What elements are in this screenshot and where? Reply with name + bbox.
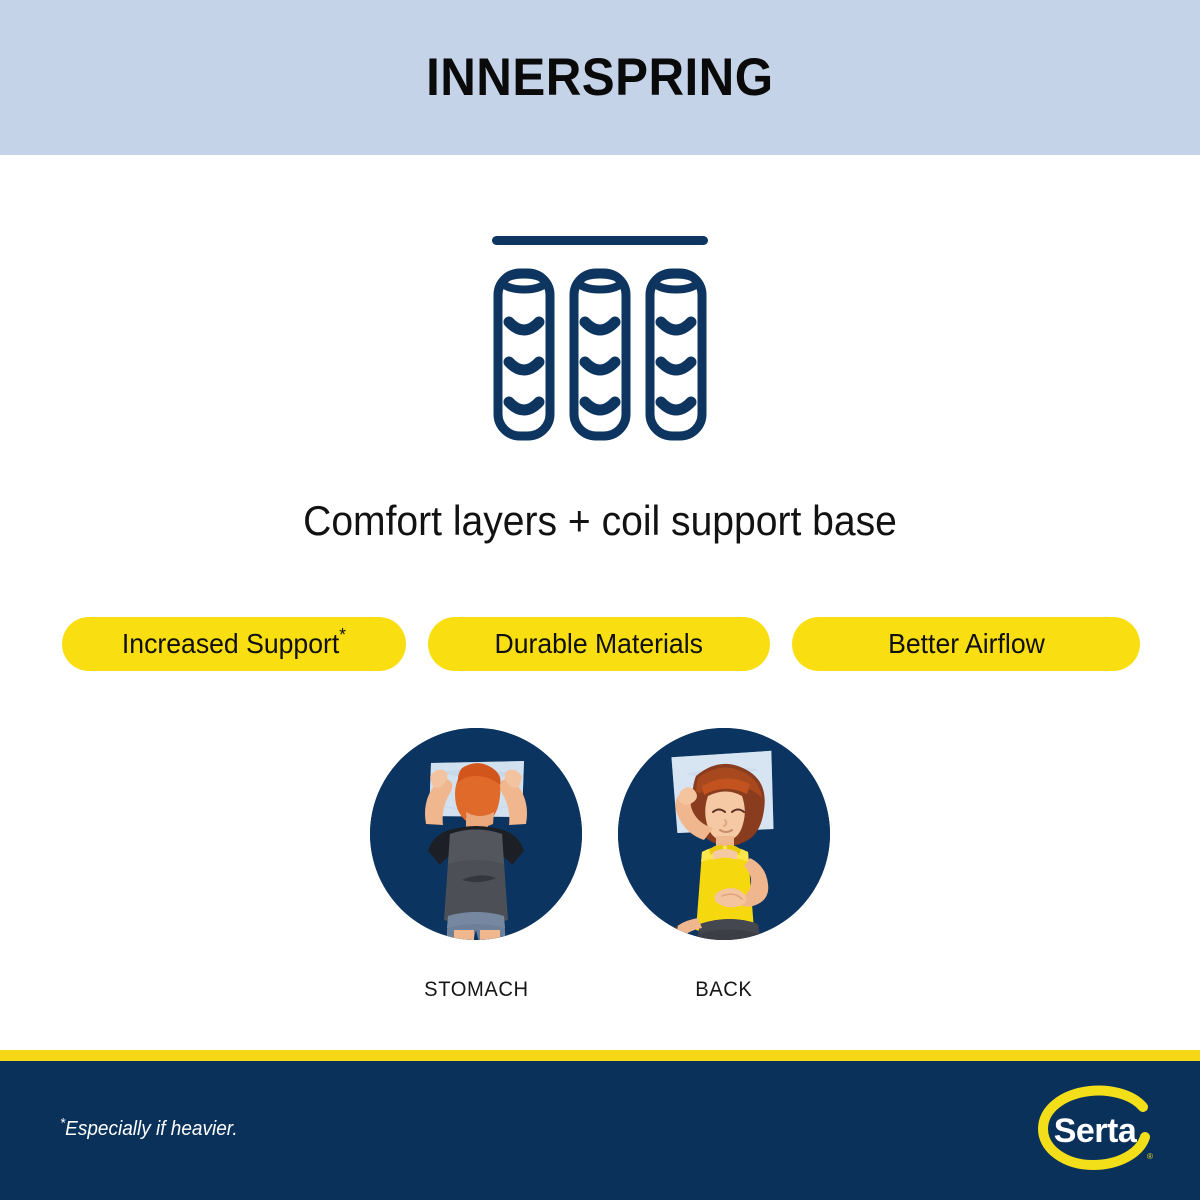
serta-registered-mark: ®: [1147, 1152, 1153, 1161]
back-sleeper-illustration: [618, 728, 830, 940]
sleeper-label-back: BACK: [695, 978, 752, 1002]
sleeper-circle-stomach: [370, 728, 582, 940]
coil-icon-container: [0, 225, 1200, 445]
sleeper-positions-row: STOMACH: [0, 728, 1200, 1002]
sleeper-circle-back: [618, 728, 830, 940]
sleeper-card-back[interactable]: BACK: [618, 728, 830, 1002]
stomach-sleeper-illustration: [370, 728, 582, 940]
serta-wordmark: Serta: [1054, 1112, 1138, 1150]
feature-pill-label: Better Airflow: [888, 628, 1045, 659]
footer-yellow-stripe: [0, 1050, 1200, 1061]
coil-column-1: [498, 273, 550, 436]
feature-pill-increased-support[interactable]: Increased Support*: [62, 617, 406, 671]
footnote-text: Especially if heavier.: [65, 1118, 237, 1140]
feature-pill-durable-materials[interactable]: Durable Materials: [428, 617, 770, 671]
coil-top-bar: [492, 236, 708, 245]
header-band: INNERSPRING: [0, 0, 1200, 155]
feature-pill-label: Durable Materials: [495, 628, 703, 659]
feature-pill-better-airflow[interactable]: Better Airflow: [792, 617, 1140, 671]
sleeper-card-stomach[interactable]: STOMACH: [370, 728, 582, 1002]
coil-stack-icon: [490, 225, 710, 445]
coil-column-3: [650, 273, 702, 436]
feature-pill-asterisk: *: [339, 625, 346, 645]
coil-column-2: [574, 273, 626, 436]
footnote: *Especially if heavier.: [60, 1118, 238, 1141]
feature-pill-row: Increased Support* Durable Materials Bet…: [62, 617, 1140, 671]
serta-logo[interactable]: Serta ®: [1035, 1085, 1165, 1177]
tagline: Comfort layers + coil support base: [42, 497, 1158, 545]
page-title: INNERSPRING: [426, 47, 773, 108]
feature-pill-label: Increased Support: [122, 628, 339, 659]
sleeper-label-stomach: STOMACH: [424, 978, 528, 1002]
